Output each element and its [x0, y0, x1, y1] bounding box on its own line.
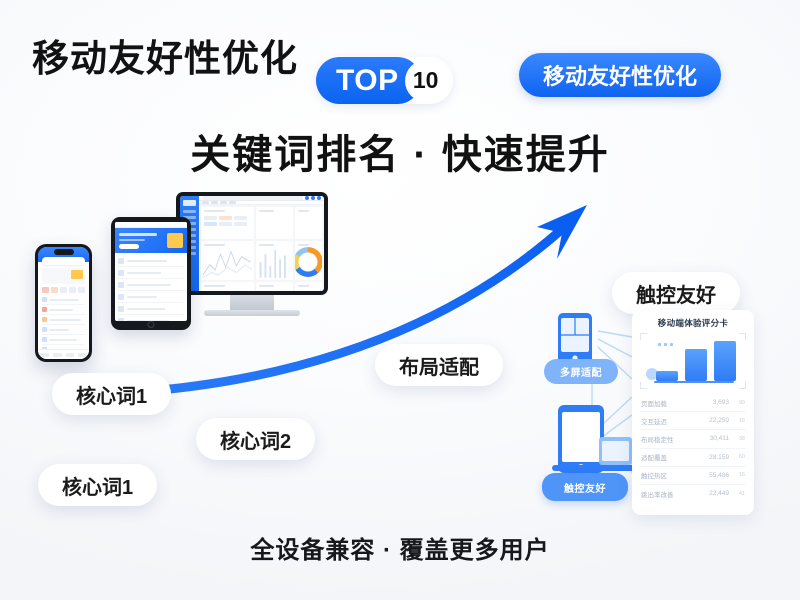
list-item	[118, 303, 184, 315]
row-value: 30,411	[703, 435, 729, 442]
list-item	[118, 267, 184, 279]
row-delta: 41	[729, 491, 745, 497]
top-badge-number: 10	[405, 60, 447, 102]
phone-small-icon	[558, 313, 592, 365]
dashboard-line-chart	[201, 241, 254, 280]
multi-screen-pill: 多屏适配	[544, 359, 618, 384]
dashboard-card	[256, 207, 293, 239]
phone-mockup	[35, 244, 92, 362]
tablet-mockup	[111, 217, 191, 330]
phone-promo-card	[42, 268, 85, 284]
score-card-chart	[640, 333, 746, 389]
row-label: 交互延迟	[641, 416, 703, 426]
keyword-pill-3: 核心词1	[38, 464, 157, 506]
table-row: 触控热区 55,486 16	[640, 467, 746, 485]
donut-icon	[295, 247, 322, 277]
dashboard-bar-chart	[256, 241, 293, 280]
footer-tagline: 全设备兼容 · 覆盖更多用户	[0, 530, 800, 565]
keyword-pill-2: 核心词2	[196, 418, 315, 460]
list-item	[118, 291, 184, 303]
phone-category-row	[42, 287, 85, 293]
list-item	[42, 315, 85, 325]
row-label: 跳出率改善	[641, 489, 703, 499]
phone-search-bar	[42, 257, 85, 265]
list-item	[42, 305, 85, 315]
keyword-pill-1: 核心词1	[52, 373, 171, 415]
desktop-monitor-mockup	[176, 192, 328, 316]
row-value: 22,449	[703, 490, 729, 497]
table-row: 页面加载 3,693 99	[640, 394, 746, 412]
dashboard-widget-grid	[199, 205, 324, 291]
list-item	[42, 335, 85, 345]
list-item	[118, 255, 184, 267]
row-label: 页面加载	[641, 398, 703, 408]
row-value: 3,693	[703, 399, 729, 406]
row-label: 布局稳定性	[641, 434, 703, 444]
dashboard-card	[256, 282, 293, 291]
table-row: 跳出率改善 22,449 41	[640, 485, 746, 502]
mobile-experience-illustration: 多屏适配 触控友好 移动端体验评分卡 页面加载 3,693 99 交互延迟	[536, 305, 768, 520]
tablet-hero-banner	[115, 228, 187, 253]
table-row: 布局稳定性 30,411 38	[640, 430, 746, 448]
tablet-result-list	[115, 253, 187, 321]
score-card-rows: 页面加载 3,693 99 交互延迟 22,250 18 布局稳定性 30,41…	[640, 394, 746, 502]
list-item	[42, 295, 85, 305]
touch-friendly-pill: 触控友好	[542, 473, 628, 501]
device-mockup-group	[18, 192, 328, 392]
poster-canvas: 移动友好性优化 TOP 10 移动友好性优化 关键词排名 · 快速提升	[0, 0, 800, 600]
header-tag-pill: 移动友好性优化	[519, 53, 721, 97]
row-delta: 18	[729, 418, 745, 424]
phone-large-icon	[558, 405, 604, 473]
phone-notch	[54, 249, 74, 255]
tablet-home-button	[148, 321, 155, 328]
list-item	[118, 279, 184, 291]
score-card-title: 移动端体验评分卡	[640, 317, 746, 329]
monitor-base	[204, 310, 300, 316]
row-delta: 99	[729, 400, 745, 406]
table-row: 适配覆盖 28,159 60	[640, 449, 746, 467]
dashboard-wave-chart	[295, 282, 322, 291]
mobile-score-card: 移动端体验评分卡 页面加载 3,693 99 交互延迟 22,250 18	[632, 310, 754, 515]
phone-tab-bar	[38, 349, 89, 359]
monitor-stand	[230, 295, 274, 310]
row-delta: 16	[729, 472, 745, 478]
dashboard-card	[295, 207, 322, 239]
dashboard-card	[201, 207, 254, 239]
table-row: 交互延迟 22,250 18	[640, 412, 746, 430]
row-value: 28,159	[703, 454, 729, 461]
page-subtitle: 关键词排名 · 快速提升	[0, 122, 800, 180]
row-value: 22,250	[703, 417, 729, 424]
row-value: 55,486	[703, 472, 729, 479]
list-item	[42, 325, 85, 335]
row-delta: 38	[729, 436, 745, 442]
row-delta: 60	[729, 454, 745, 460]
dashboard-area-chart	[201, 282, 254, 291]
feature-pill-layout: 布局适配	[375, 344, 503, 386]
row-label: 适配覆盖	[641, 452, 703, 462]
dashboard-donut-chart	[295, 241, 322, 280]
row-label: 触控热区	[641, 470, 703, 480]
top-rank-badge: TOP 10	[316, 57, 453, 104]
page-title: 移动友好性优化	[32, 28, 298, 82]
